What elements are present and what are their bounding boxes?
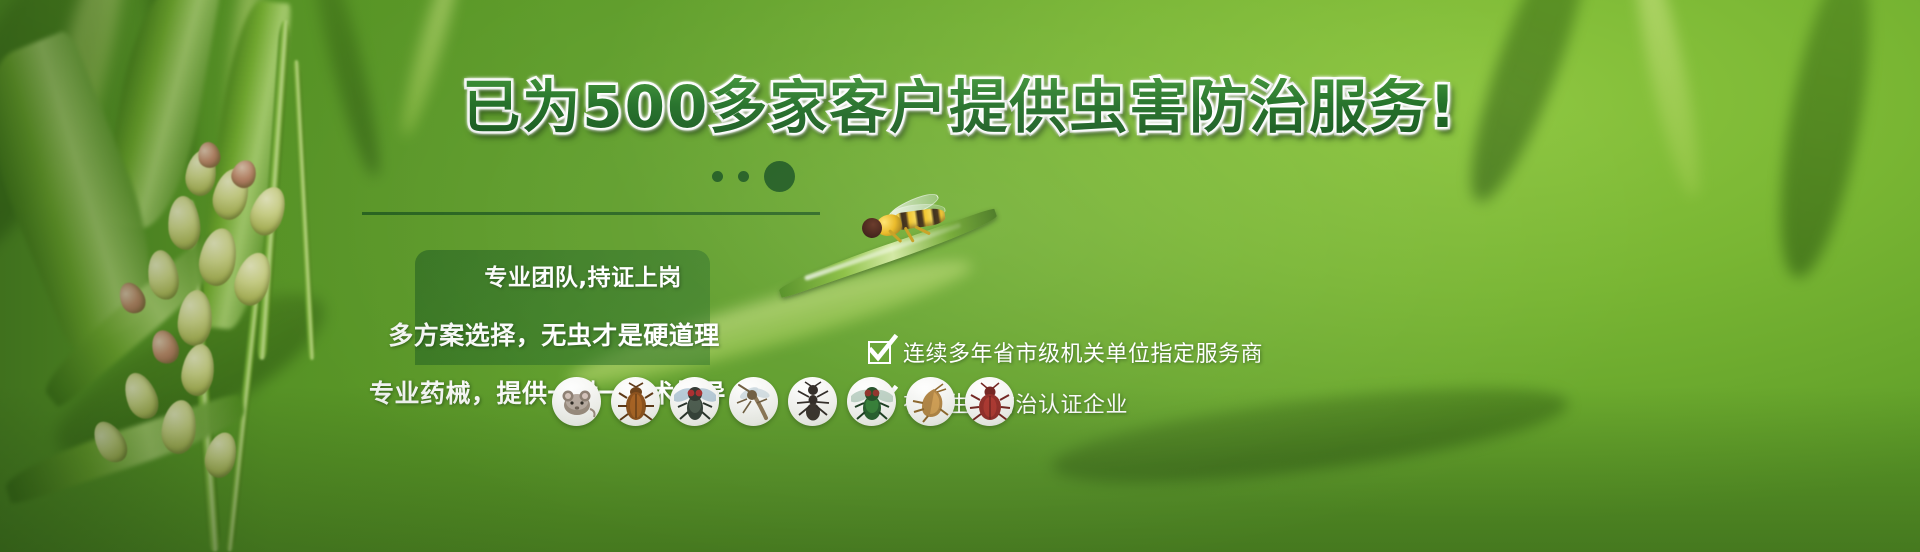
decorative-dots — [712, 158, 812, 198]
housefly-icon[interactable] — [670, 377, 719, 426]
large-dot-icon — [764, 161, 795, 192]
mouse-icon[interactable] — [552, 377, 601, 426]
feature-line-1: 专业团队,持证上岗 — [416, 258, 750, 292]
ant-icon[interactable] — [788, 377, 837, 426]
divider — [362, 212, 820, 215]
small-dot-icon — [712, 171, 723, 182]
pest-icon-row — [552, 377, 1014, 426]
credential-label: 连续多年省市级机关单位指定服务商 — [903, 336, 1263, 368]
page-title: 已为500多家客户提供虫害防治服务! — [0, 78, 1920, 136]
feature-line-2: 多方案选择，无虫才是硬道理 — [358, 316, 750, 352]
mosquito-icon[interactable] — [729, 377, 778, 426]
cockroach-icon[interactable] — [611, 377, 660, 426]
checkbox-checked-icon — [868, 341, 891, 364]
small-dot-icon — [738, 171, 749, 182]
list-item: 连续多年省市级机关单位指定服务商 — [868, 336, 1338, 368]
flea-icon[interactable] — [906, 377, 955, 426]
blowfly-icon[interactable] — [847, 377, 896, 426]
promotional-banner: 已为500多家客户提供虫害防治服务! 已为500多家客户提供虫害防治服务! 专业… — [0, 0, 1920, 552]
bedbug-icon[interactable] — [965, 377, 1014, 426]
